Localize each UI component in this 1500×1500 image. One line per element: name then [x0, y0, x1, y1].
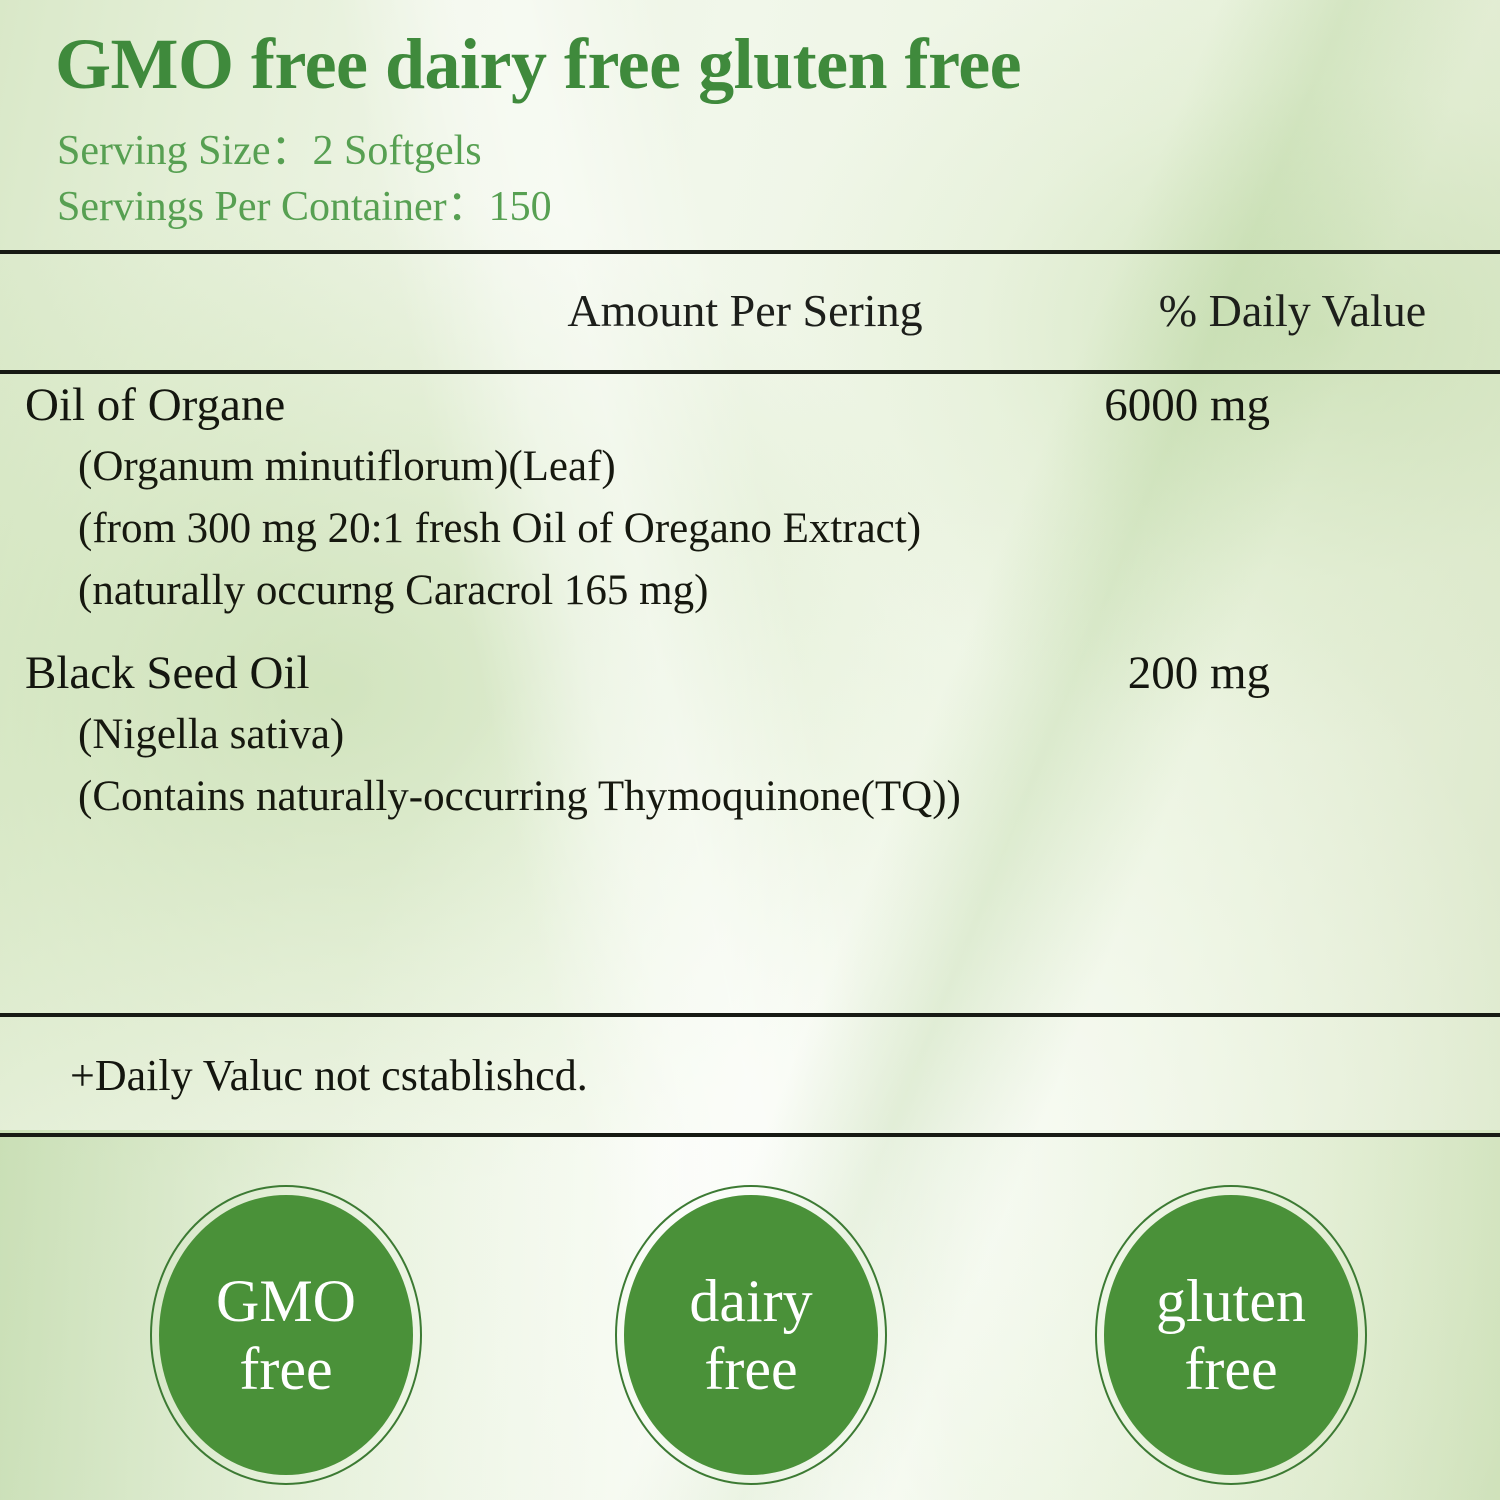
badge-dairy-free: dairy free — [615, 1185, 887, 1485]
ingredient-amount: 6000 mg — [870, 378, 1270, 432]
serving-size-label: Serving Size： — [57, 128, 312, 174]
divider-under-columns — [0, 370, 1500, 374]
divider-under-header — [0, 250, 1500, 254]
ingredient-subline: (Nigella sativa) — [78, 712, 1500, 774]
badge-label: gluten free — [1095, 1185, 1367, 1485]
ingredient-subline: (naturally occurng Caracrol 165 mg) — [78, 568, 1500, 630]
supplement-facts-panel: GMO free dairy free gluten free Serving … — [0, 0, 1500, 1500]
table-column-headers: Amount Per Sering % Daily Value — [0, 284, 1500, 346]
ingredient-subline: (Organum minutiflorum)(Leaf) — [78, 444, 1500, 506]
badge-line-1: GMO — [216, 1271, 356, 1331]
page-title: GMO free dairy free gluten free — [55, 28, 1021, 100]
badge-gmo-free: GMO free — [150, 1185, 422, 1485]
ingredient-name: Black Seed Oil — [25, 646, 310, 700]
badge-line-2: free — [704, 1339, 797, 1399]
row-spacer — [0, 630, 1500, 646]
badge-line-1: dairy — [689, 1271, 812, 1331]
servings-per-container-line: Servings Per Container：150 — [57, 186, 552, 228]
badge-line-2: free — [1184, 1339, 1277, 1399]
serving-size-value: 2 Softgels — [312, 128, 481, 174]
badge-line-1: gluten — [1156, 1271, 1306, 1331]
badge-gluten-free: gluten free — [1095, 1185, 1367, 1485]
badge-label: GMO free — [150, 1185, 422, 1485]
ingredient-amount: 200 mg — [870, 646, 1270, 700]
ingredient-subline: (Contains naturally-occurring Thymoquino… — [78, 774, 1500, 836]
badge-label: dairy free — [615, 1185, 887, 1485]
ingredient-list: Oil of Organe 6000 mg (Organum minutiflo… — [0, 378, 1500, 836]
servings-per-container-value: 150 — [489, 184, 552, 230]
ingredient-name: Oil of Organe — [25, 378, 285, 432]
divider-below-footnote — [0, 1133, 1500, 1137]
table-row: Black Seed Oil 200 mg — [0, 646, 1500, 712]
column-header-amount-per-serving: Amount Per Sering — [500, 284, 990, 337]
servings-per-container-label: Servings Per Container： — [57, 184, 489, 230]
divider-above-footnote — [0, 1013, 1500, 1017]
table-row: Oil of Organe 6000 mg — [0, 378, 1500, 444]
certification-badge-row: GMO free dairy free gluten free — [0, 1185, 1500, 1500]
serving-size-line: Serving Size：2 Softgels — [57, 130, 482, 172]
ingredient-subline: (from 300 mg 20:1 fresh Oil of Oregano E… — [78, 506, 1500, 568]
badge-line-2: free — [239, 1339, 332, 1399]
column-header-daily-value: % Daily Value — [1110, 284, 1475, 337]
daily-value-footnote: +Daily Valuc not cstablishcd. — [70, 1050, 588, 1101]
